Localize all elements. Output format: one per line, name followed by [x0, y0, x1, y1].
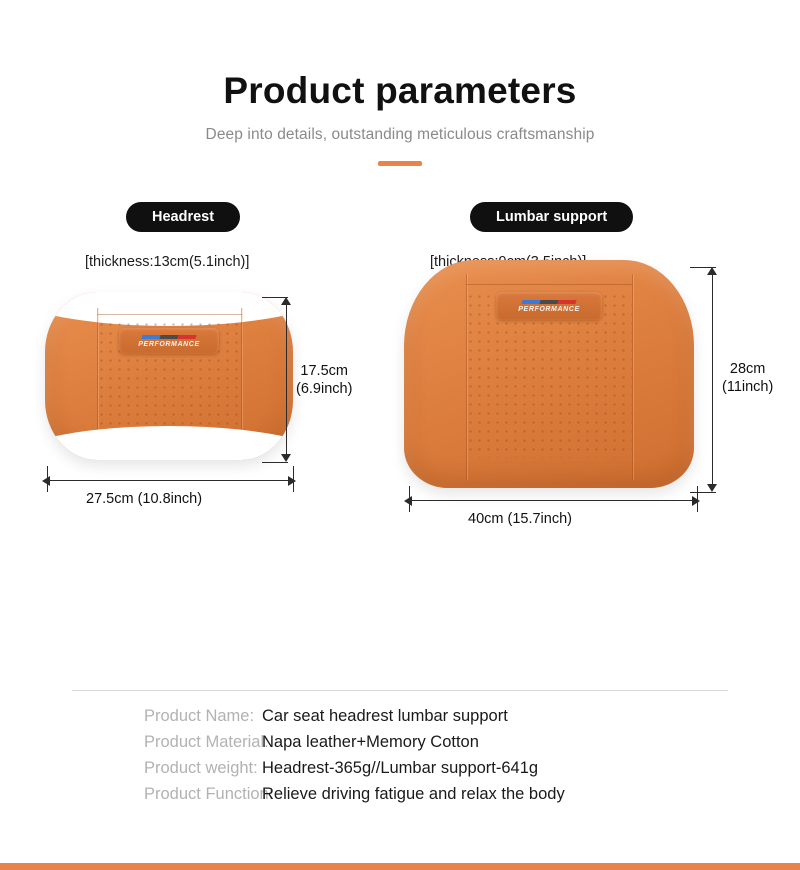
lumbar-height-tick-top [690, 267, 716, 268]
headrest-width-cap-left [42, 476, 50, 486]
spec-row: Product Function: Relieve driving fatigu… [72, 785, 728, 804]
headrest-width-tick-left [47, 466, 48, 492]
page-title: Product parameters [0, 70, 800, 112]
headrest-seam-top [97, 314, 242, 315]
m-stripes-icon [141, 335, 196, 339]
product-badge-headrest: Headrest [126, 202, 240, 232]
lumbar-height-cap-top [707, 267, 717, 275]
headrest-height-cap-bottom [281, 454, 291, 462]
lumbar-height-rule [712, 274, 713, 486]
lumbar-height-alt: (11inch) [722, 379, 773, 395]
lumbar-width-tick-left [409, 486, 410, 512]
headrest-height-tick-top [262, 297, 288, 298]
spec-value: Car seat headrest lumbar support [262, 707, 508, 726]
lumbar-logo-plate: PERFORMANCE [496, 292, 602, 320]
headrest-logo-text: PERFORMANCE [138, 341, 199, 348]
title-underline [378, 161, 422, 166]
lumbar-seam-top [466, 284, 633, 285]
spec-key: Product Function: [72, 785, 262, 804]
spec-row: Product Material: Napa leather+Memory Co… [72, 733, 728, 752]
m-stripes-icon [521, 300, 576, 304]
lumbar-logo-text: PERFORMANCE [518, 306, 579, 313]
lumbar-height-label: 28cm (11inch) [722, 360, 773, 396]
lumbar-height-value: 28cm [730, 361, 765, 377]
spec-key: Product weight: [72, 759, 262, 778]
page-subtitle: Deep into details, outstanding meticulou… [0, 126, 800, 144]
spec-value: Napa leather+Memory Cotton [262, 733, 479, 752]
lumbar-width-label: 40cm (15.7inch) [468, 510, 572, 528]
spec-key: Product Name: [72, 707, 262, 726]
bottom-accent-bar [0, 863, 800, 870]
spec-table: Product Name: Car seat headrest lumbar s… [72, 690, 728, 811]
product-badge-lumbar: Lumbar support [470, 202, 633, 232]
headrest-width-label: 27.5cm (10.8inch) [86, 490, 202, 508]
lumbar-width-cap-left [404, 496, 412, 506]
headrest-height-cap-top [281, 297, 291, 305]
lumbar-height-cap-bottom [707, 484, 717, 492]
spec-key: Product Material: [72, 733, 262, 752]
headrest-logo-plate: PERFORMANCE [119, 328, 219, 354]
headrest-height-rule [286, 304, 287, 456]
headrest-seam-right [241, 308, 242, 444]
headrest-height-label: 17.5cm (6.9inch) [296, 362, 352, 398]
headrest-height-tick-bottom [262, 462, 288, 463]
lumbar-seam-right [632, 274, 633, 480]
lumbar-illustration: PERFORMANCE [404, 260, 694, 488]
lumbar-seam-left [466, 274, 467, 480]
headrest-height-alt: (6.9inch) [296, 381, 352, 397]
headrest-illustration: PERFORMANCE [45, 292, 293, 460]
thickness-label-headrest: [thickness:13cm(5.1inch)] [85, 254, 249, 270]
headrest-seam-left [97, 308, 98, 444]
headrest-width-tick-right [293, 466, 294, 492]
spec-value: Headrest-365g//Lumbar support-641g [262, 759, 538, 778]
spec-row: Product Name: Car seat headrest lumbar s… [72, 707, 728, 726]
lumbar-width-rule [412, 500, 694, 501]
lumbar-width-cap-right [692, 496, 700, 506]
headrest-width-rule [50, 480, 290, 481]
lumbar-width-tick-right [697, 486, 698, 512]
products-section: Headrest [thickness:13cm(5.1inch)] PERFO… [0, 202, 800, 562]
spec-row: Product weight: Headrest-365g//Lumbar su… [72, 759, 728, 778]
headrest-width-cap-right [288, 476, 296, 486]
headrest-height-value: 17.5cm [300, 363, 348, 379]
lumbar-height-tick-bottom [690, 492, 716, 493]
spec-value: Relieve driving fatigue and relax the bo… [262, 785, 565, 804]
